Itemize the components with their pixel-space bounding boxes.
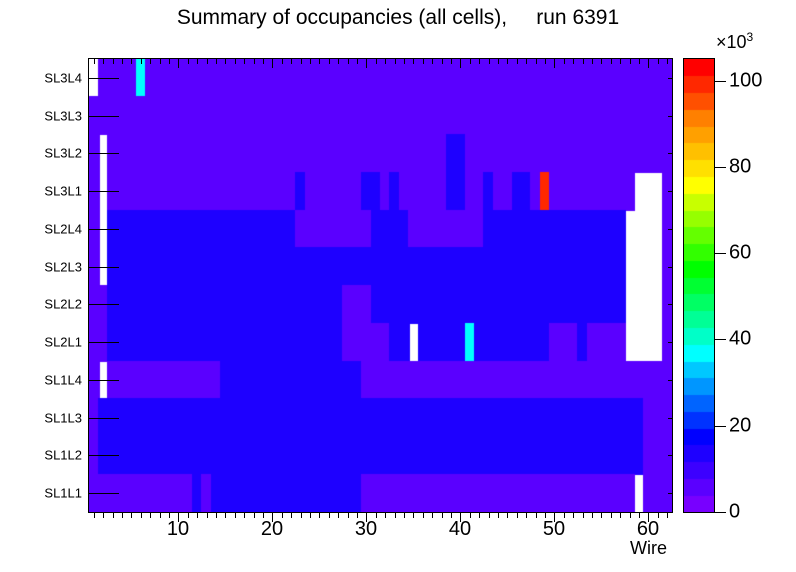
z-axis-tick-label: 20 (729, 415, 751, 438)
x-axis-minor-tick (489, 513, 490, 518)
y-axis-right-tick (668, 304, 673, 305)
x-axis-top-tick (188, 59, 189, 64)
x-axis-minor-tick (620, 513, 621, 518)
z-axis-tick (715, 512, 726, 513)
x-axis-minor-tick (291, 513, 292, 518)
x-axis-minor-tick (583, 513, 584, 518)
x-axis-top-tick (376, 59, 377, 64)
x-axis-minor-tick (404, 513, 405, 518)
x-axis-top-tick (442, 59, 443, 64)
x-axis-top-tick (592, 59, 593, 64)
y-axis-tick (89, 116, 119, 117)
x-axis-minor-tick (235, 513, 236, 518)
y-axis-tick-label-sl1l2: SL1L2 (44, 448, 82, 463)
x-axis-minor-tick (150, 513, 151, 518)
x-axis-minor-tick (573, 513, 574, 518)
x-axis-minor-tick (131, 513, 132, 518)
y-axis-right-tick (668, 418, 673, 419)
x-axis-top-tick (507, 59, 508, 64)
x-axis-minor-tick (160, 513, 161, 518)
y-axis-right-tick (668, 493, 673, 494)
z-axis-tick-label: 100 (729, 70, 762, 93)
x-axis-minor-tick (395, 513, 396, 518)
y-axis-tick (89, 153, 119, 154)
z-axis-tick-label: 0 (729, 501, 740, 524)
x-axis-top-tick (319, 59, 320, 64)
x-axis-top-tick (207, 59, 208, 64)
x-axis-top-tick (601, 59, 602, 64)
z-axis-tick (715, 339, 726, 340)
y-axis-tick-label-sl3l2: SL3L2 (44, 146, 82, 161)
x-axis-minor-tick (141, 513, 142, 518)
x-axis-tick-label: 30 (355, 518, 377, 541)
x-axis-top-tick (526, 59, 527, 64)
x-axis-minor-tick (385, 513, 386, 518)
x-axis-minor-tick (536, 513, 537, 518)
x-axis-top-tick (554, 59, 555, 68)
x-axis-top-tick (385, 59, 386, 64)
z-axis-tick-label: 40 (729, 328, 751, 351)
x-axis-top-tick (413, 59, 414, 64)
z-axis-tick (715, 167, 726, 168)
y-axis-tick-label-sl2l1: SL2L1 (44, 335, 82, 350)
x-axis-top-tick (423, 59, 424, 64)
x-axis-minor-tick (197, 513, 198, 518)
x-axis-top-tick (122, 59, 123, 64)
x-axis-top-tick (460, 59, 461, 68)
x-axis-top-tick (536, 59, 537, 64)
x-axis-top-tick (348, 59, 349, 64)
x-axis-top-tick (498, 59, 499, 64)
x-axis-top-tick (564, 59, 565, 64)
y-axis-tick (89, 493, 119, 494)
page-title: Summary of occupancies (all cells), run … (0, 6, 796, 30)
y-axis-tick-label-sl3l4: SL3L4 (44, 71, 82, 86)
x-axis-top-tick (639, 59, 640, 64)
y-axis-tick-label-sl2l3: SL2L3 (44, 260, 82, 275)
x-axis-top-tick (658, 59, 659, 64)
y-axis-right-tick (668, 267, 673, 268)
x-axis-minor-tick (319, 513, 320, 518)
y-axis-tick (89, 304, 119, 305)
x-axis-minor-tick (423, 513, 424, 518)
x-axis-top-tick (338, 59, 339, 64)
z-axis-tick (715, 426, 726, 427)
x-axis-top-tick (404, 59, 405, 64)
x-axis-minor-tick (498, 513, 499, 518)
x-axis-minor-tick (630, 513, 631, 518)
y-axis-tick-label-sl3l1: SL3L1 (44, 184, 82, 199)
y-axis-right-tick (668, 342, 673, 343)
x-axis-minor-tick (413, 513, 414, 518)
x-axis-top-tick (225, 59, 226, 64)
x-axis-top-tick (573, 59, 574, 64)
x-axis-minor-tick (479, 513, 480, 518)
y-axis-tick-label-sl2l4: SL2L4 (44, 222, 82, 237)
x-axis-top-tick (94, 59, 95, 64)
x-axis-minor-tick (310, 513, 311, 518)
z-axis-tick-label: 60 (729, 242, 751, 265)
y-axis-tick (89, 191, 119, 192)
y-axis-right-tick (668, 229, 673, 230)
y-axis-tick (89, 380, 119, 381)
y-axis-right-tick (668, 116, 673, 117)
y-axis-tick-label-sl1l1: SL1L1 (44, 486, 82, 501)
z-exponent-power: 3 (747, 30, 754, 44)
x-axis-top-tick (178, 59, 179, 68)
z-axis-exponent-label: ×103 (716, 30, 753, 53)
x-axis-top-tick (197, 59, 198, 64)
root-canvas: Summary of occupancies (all cells), run … (0, 0, 796, 572)
x-axis-top-tick (282, 59, 283, 64)
x-axis-minor-tick (244, 513, 245, 518)
color-scale-gradient (684, 59, 714, 512)
z-axis-tick (715, 253, 726, 254)
x-axis-top-tick (160, 59, 161, 64)
x-axis-top-tick (103, 59, 104, 64)
x-axis-top-tick (489, 59, 490, 64)
x-axis-top-tick (254, 59, 255, 64)
x-axis-top-tick (301, 59, 302, 64)
x-axis-minor-tick (507, 513, 508, 518)
x-axis-top-tick (169, 59, 170, 64)
x-axis-top-tick (611, 59, 612, 64)
x-axis-top-tick (357, 59, 358, 64)
x-axis-minor-tick (601, 513, 602, 518)
x-axis-top-tick (667, 59, 668, 64)
x-axis-minor-tick (329, 513, 330, 518)
z-axis-tick (715, 81, 726, 82)
x-axis-minor-tick (216, 513, 217, 518)
x-axis-minor-tick (517, 513, 518, 518)
x-axis-top-tick (272, 59, 273, 68)
x-axis-tick-label: 50 (543, 518, 565, 541)
x-axis-minor-tick (94, 513, 95, 518)
z-exponent-base: ×10 (716, 32, 747, 52)
x-axis-top-tick (131, 59, 132, 64)
heatmap-plot-area[interactable] (88, 58, 673, 513)
x-axis-top-tick (648, 59, 649, 68)
x-axis-top-tick (291, 59, 292, 64)
y-axis-tick-label-sl2l2: SL2L2 (44, 297, 82, 312)
x-axis-title: Wire (630, 538, 667, 559)
y-axis-tick (89, 455, 119, 456)
x-axis-top-tick (150, 59, 151, 64)
x-axis-minor-tick (338, 513, 339, 518)
y-axis-tick (89, 342, 119, 343)
x-axis-top-tick (216, 59, 217, 64)
x-axis-top-tick (479, 59, 480, 64)
x-axis-top-tick (630, 59, 631, 64)
y-axis-tick (89, 267, 119, 268)
x-axis-minor-tick (526, 513, 527, 518)
x-axis-minor-tick (442, 513, 443, 518)
y-axis-tick (89, 418, 119, 419)
x-axis-tick-label: 10 (167, 518, 189, 541)
x-axis-top-tick (583, 59, 584, 64)
x-axis-top-tick (244, 59, 245, 64)
x-axis-top-tick (620, 59, 621, 64)
x-axis-minor-tick (254, 513, 255, 518)
x-axis-minor-tick (432, 513, 433, 518)
y-axis-right-tick (668, 455, 673, 456)
x-axis-top-tick (329, 59, 330, 64)
y-axis-tick-label-sl1l3: SL1L3 (44, 411, 82, 426)
x-axis-top-tick (432, 59, 433, 64)
x-axis-minor-tick (103, 513, 104, 518)
x-axis-tick-label: 20 (261, 518, 283, 541)
x-axis-minor-tick (225, 513, 226, 518)
z-axis-tick-label: 80 (729, 156, 751, 179)
x-axis-minor-tick (301, 513, 302, 518)
x-axis-top-tick (545, 59, 546, 64)
x-axis-top-tick (113, 59, 114, 64)
x-axis-top-tick (517, 59, 518, 64)
x-axis-minor-tick (122, 513, 123, 518)
x-axis-top-tick (470, 59, 471, 64)
x-axis-top-tick (141, 59, 142, 64)
color-scale-bar[interactable] (683, 58, 715, 513)
heatmap-cells (89, 59, 672, 512)
x-axis-top-tick (451, 59, 452, 64)
x-axis-minor-tick (667, 513, 668, 518)
x-axis-top-tick (235, 59, 236, 64)
x-axis-tick-label: 40 (449, 518, 471, 541)
x-axis-minor-tick (113, 513, 114, 518)
y-axis-right-tick (668, 78, 673, 79)
x-axis-top-tick (395, 59, 396, 64)
y-axis-right-tick (668, 380, 673, 381)
x-axis-minor-tick (348, 513, 349, 518)
x-axis-top-tick (263, 59, 264, 64)
y-axis-tick-label-sl1l4: SL1L4 (44, 373, 82, 388)
x-axis-top-tick (310, 59, 311, 64)
y-axis-tick (89, 229, 119, 230)
x-axis-minor-tick (207, 513, 208, 518)
y-axis-tick-label-sl3l3: SL3L3 (44, 109, 82, 124)
y-axis-right-tick (668, 153, 673, 154)
y-axis-tick (89, 78, 119, 79)
x-axis-top-tick (366, 59, 367, 68)
x-axis-minor-tick (611, 513, 612, 518)
x-axis-minor-tick (592, 513, 593, 518)
y-axis-right-tick (668, 191, 673, 192)
